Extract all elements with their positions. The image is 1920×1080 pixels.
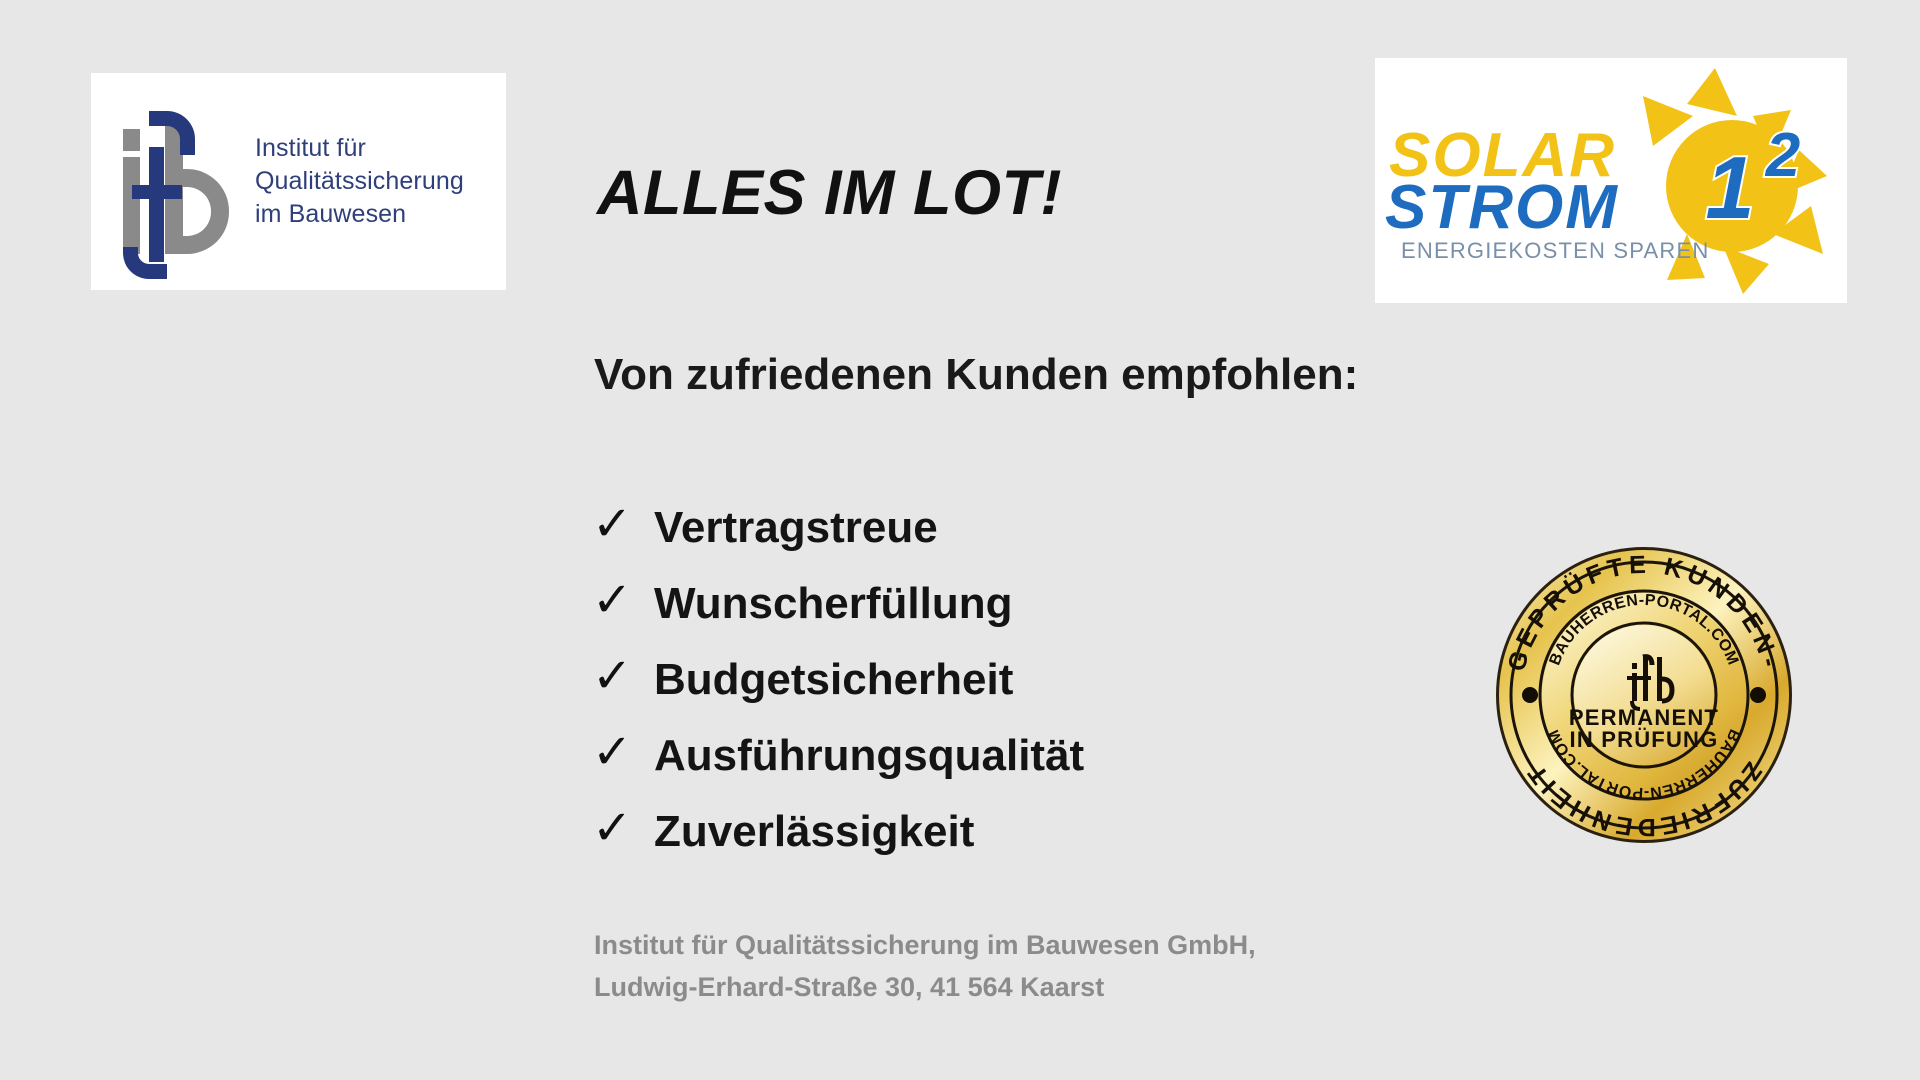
check-icon: ✓	[592, 501, 654, 549]
sun-number-exponent: 2	[1765, 121, 1800, 190]
headline: ALLES IM LOT!	[597, 157, 1062, 229]
list-item-label: Zuverlässigkeit	[654, 807, 974, 857]
list-item: ✓ Vertragstreue	[592, 490, 1084, 566]
company-address: Institut für Qualitätssicherung im Bauwe…	[594, 925, 1256, 1009]
solar-word-bottom: STROM	[1385, 173, 1619, 242]
ifb-letter-b-bowl	[171, 169, 229, 254]
ifb-wordmark-text: Institut für Qualitätssicherung im Bauwe…	[255, 132, 464, 231]
solarstrom12-logo-card: 1 2 SOLAR STROM ENERGIEKOSTEN SPAREN	[1375, 58, 1847, 303]
ifb-logo-mark-icon	[113, 107, 233, 257]
seal-center-line2: IN PRÜFUNG	[1570, 727, 1719, 752]
ifb-logo-card: Institut für Qualitätssicherung im Bauwe…	[91, 73, 506, 290]
quality-seal-badge: GEPRÜFTE KUNDEN- ZUFRIEDENHEIT BAUHERREN…	[1494, 545, 1794, 845]
list-item: ✓ Wunscherfüllung	[592, 566, 1084, 642]
slide-canvas: Institut für Qualitätssicherung im Bauwe…	[0, 0, 1920, 1080]
ifb-letter-f-crossbar	[132, 185, 182, 199]
list-item-label: Wunscherfüllung	[654, 579, 1013, 629]
check-icon: ✓	[592, 577, 654, 625]
check-icon: ✓	[592, 653, 654, 701]
list-item: ✓ Zuverlässigkeit	[592, 794, 1084, 870]
seal-icon: GEPRÜFTE KUNDEN- ZUFRIEDENHEIT BAUHERREN…	[1494, 545, 1794, 845]
list-item-label: Budgetsicherheit	[654, 655, 1013, 705]
ifb-letter-f-stem	[149, 147, 164, 262]
ifb-letter-i-dot	[123, 129, 140, 151]
check-icon: ✓	[592, 729, 654, 777]
seal-dot-left	[1522, 687, 1538, 703]
solarstrom12-logo-icon: 1 2 SOLAR STROM ENERGIEKOSTEN SPAREN	[1375, 58, 1847, 303]
subheadline: Von zufriedenen Kunden empfohlen:	[594, 350, 1358, 400]
list-item-label: Vertragstreue	[654, 503, 938, 553]
list-item-label: Ausführungsqualität	[654, 731, 1084, 781]
solar-tagline: ENERGIEKOSTEN SPAREN	[1401, 238, 1709, 263]
ifb-letter-i-stem	[123, 157, 140, 254]
seal-dot-right	[1750, 687, 1766, 703]
check-icon: ✓	[592, 805, 654, 853]
ifb-letter-f-tail	[123, 247, 167, 279]
list-item: ✓ Ausführungsqualität	[592, 718, 1084, 794]
sun-number-base: 1	[1706, 138, 1755, 237]
benefits-checklist: ✓ Vertragstreue ✓ Wunscherfüllung ✓ Budg…	[592, 490, 1084, 870]
list-item: ✓ Budgetsicherheit	[592, 642, 1084, 718]
